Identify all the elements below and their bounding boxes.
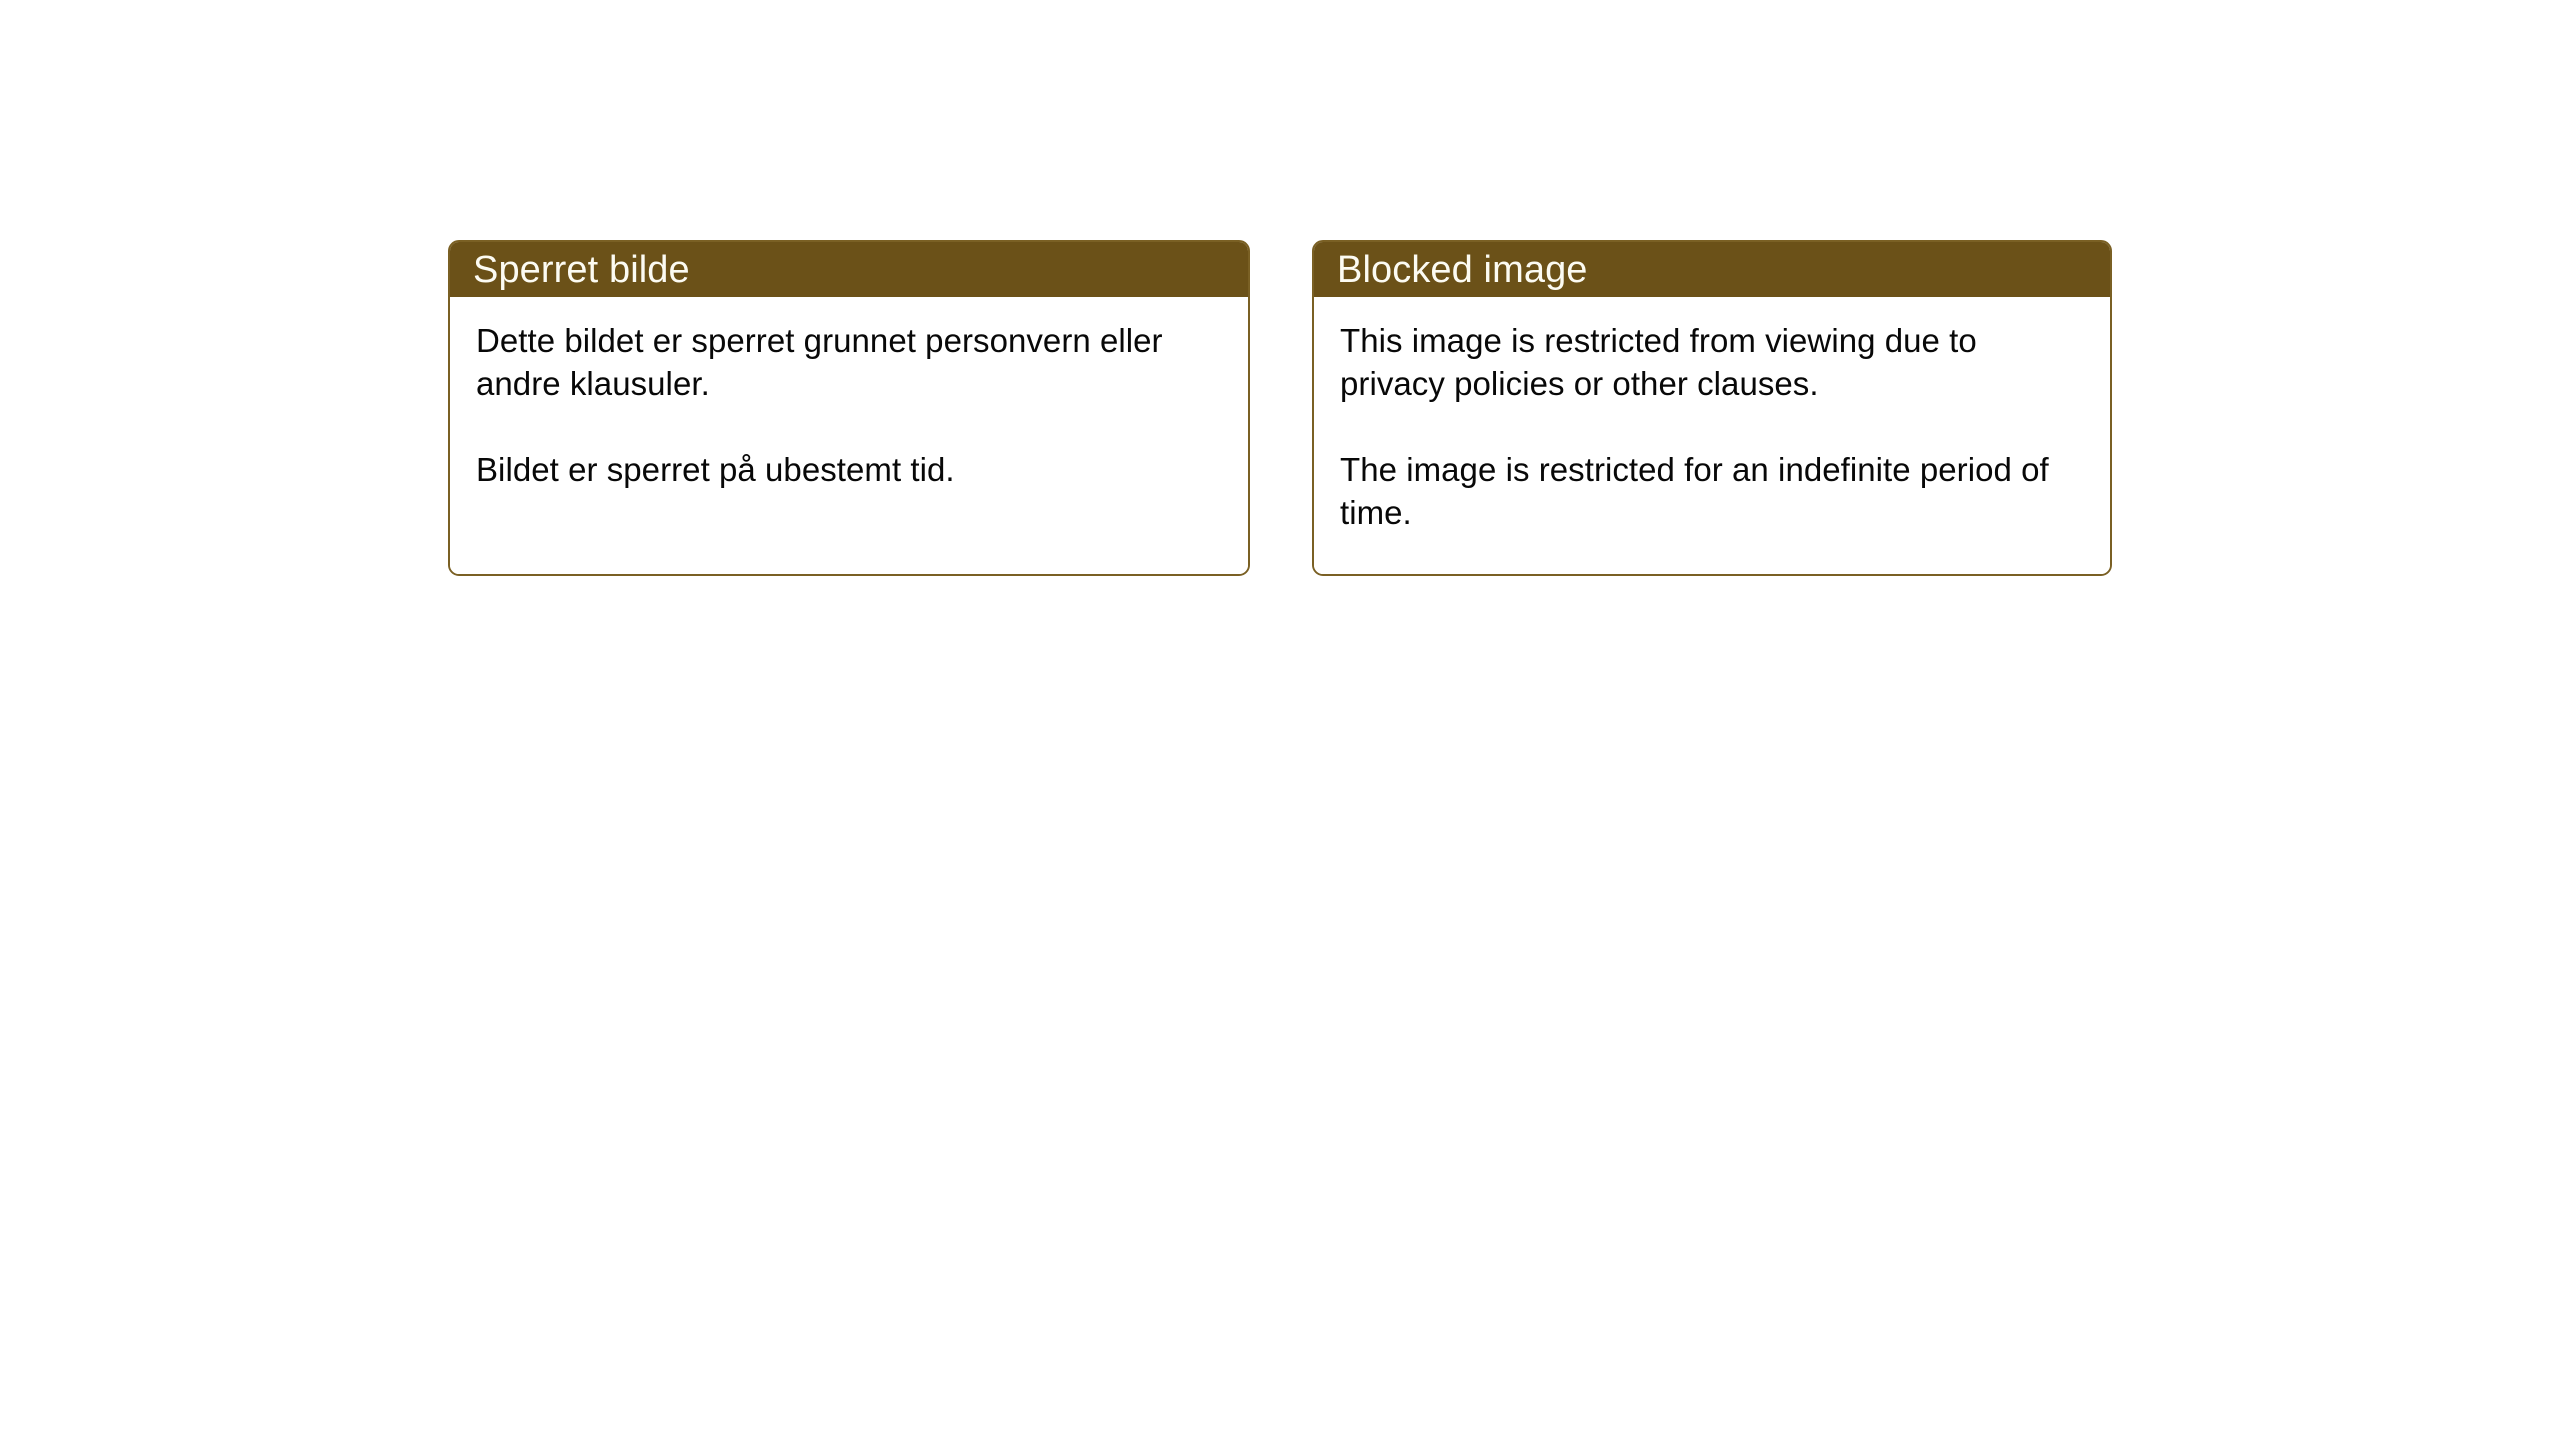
card-header-english: Blocked image: [1314, 242, 2110, 297]
card-body-english: This image is restricted from viewing du…: [1314, 297, 2110, 574]
blocked-image-notice-group: Sperret bilde Dette bildet er sperret gr…: [448, 240, 2112, 576]
card-paragraph-secondary-1: This image is restricted from viewing du…: [1340, 319, 2090, 405]
card-header-norwegian: Sperret bilde: [450, 242, 1248, 297]
blocked-image-card-norwegian: Sperret bilde Dette bildet er sperret gr…: [448, 240, 1250, 576]
card-body-norwegian: Dette bildet er sperret grunnet personve…: [450, 297, 1248, 574]
blocked-image-card-english: Blocked image This image is restricted f…: [1312, 240, 2112, 576]
card-title-norwegian: Sperret bilde: [473, 249, 690, 291]
card-title-english: Blocked image: [1337, 249, 1588, 291]
card-paragraph-primary-1: Dette bildet er sperret grunnet personve…: [476, 319, 1228, 405]
card-paragraph-primary-2: Bildet er sperret på ubestemt tid.: [476, 448, 1228, 491]
card-paragraph-secondary-2: The image is restricted for an indefinit…: [1340, 448, 2090, 534]
page-canvas: Sperret bilde Dette bildet er sperret gr…: [0, 0, 2560, 1440]
